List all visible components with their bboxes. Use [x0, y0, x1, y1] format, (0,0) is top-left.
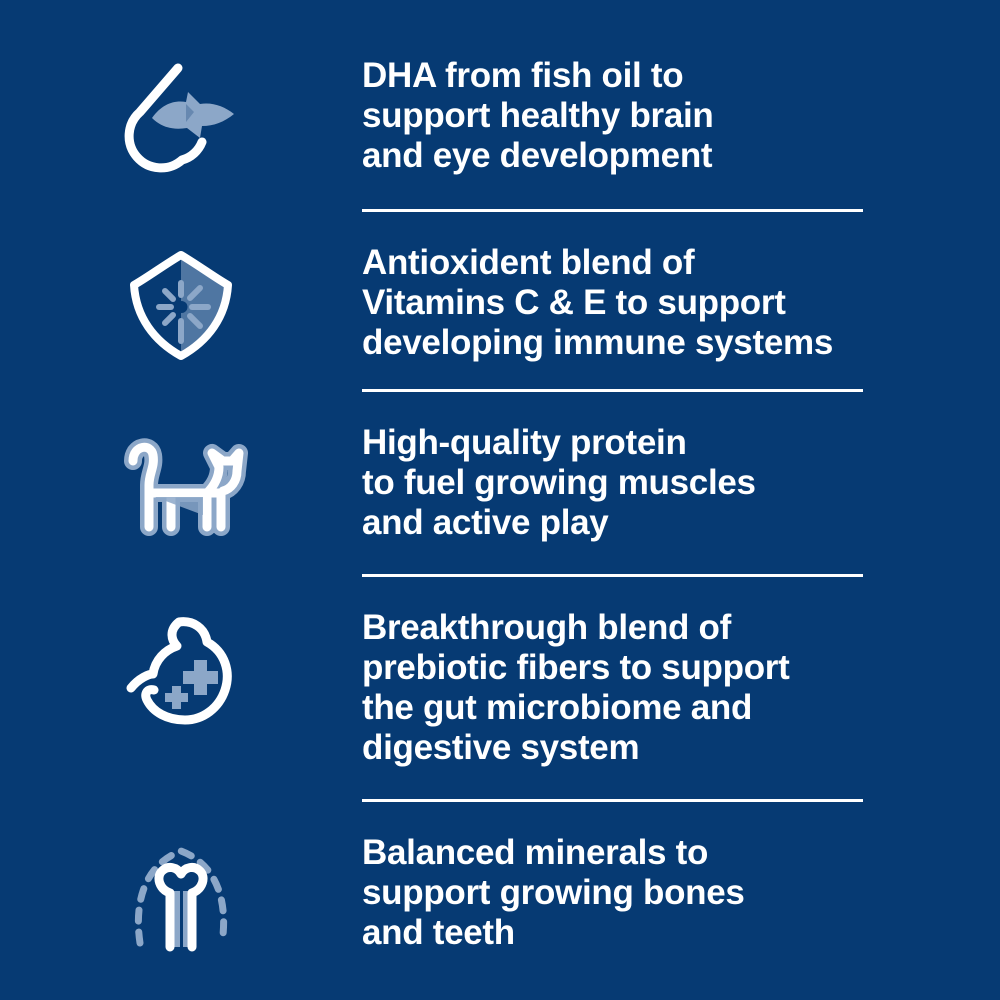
feature-label-dha: DHA from fish oil to support healthy bra…: [362, 56, 980, 176]
feature-item-prebiotic: Breakthrough blend of prebiotic fibers t…: [0, 608, 1000, 768]
cat-icon: [0, 423, 362, 548]
feature-label-minerals: Balanced minerals to support growing bon…: [362, 833, 980, 953]
divider-4: [362, 799, 863, 802]
stomach-plus-icon: [0, 608, 362, 733]
feature-item-dha: DHA from fish oil to support healthy bra…: [0, 56, 1000, 176]
fish-in-droplet-icon: [0, 56, 362, 176]
feature-label-protein: High-quality protein to fuel growing mus…: [362, 423, 980, 543]
feature-text-cell: DHA from fish oil to support healthy bra…: [362, 56, 1000, 176]
divider-3: [362, 574, 863, 577]
feature-text-cell: Breakthrough blend of prebiotic fibers t…: [362, 608, 1000, 768]
bone-tooth-icon: [0, 833, 362, 953]
feature-item-protein: High-quality protein to fuel growing mus…: [0, 423, 1000, 548]
feature-label-prebiotic: Breakthrough blend of prebiotic fibers t…: [362, 608, 980, 768]
shield-burst-icon: [0, 243, 362, 368]
feature-text-cell: Antioxident blend of Vitamins C & E to s…: [362, 243, 1000, 363]
feature-item-minerals: Balanced minerals to support growing bon…: [0, 833, 1000, 953]
feature-benefits-infographic: DHA from fish oil to support healthy bra…: [0, 0, 1000, 1000]
feature-text-cell: Balanced minerals to support growing bon…: [362, 833, 1000, 953]
feature-text-cell: High-quality protein to fuel growing mus…: [362, 423, 1000, 543]
feature-item-antioxidant: Antioxident blend of Vitamins C & E to s…: [0, 243, 1000, 368]
divider-1: [362, 209, 863, 212]
feature-label-antioxidant: Antioxident blend of Vitamins C & E to s…: [362, 243, 980, 363]
divider-2: [362, 389, 863, 392]
